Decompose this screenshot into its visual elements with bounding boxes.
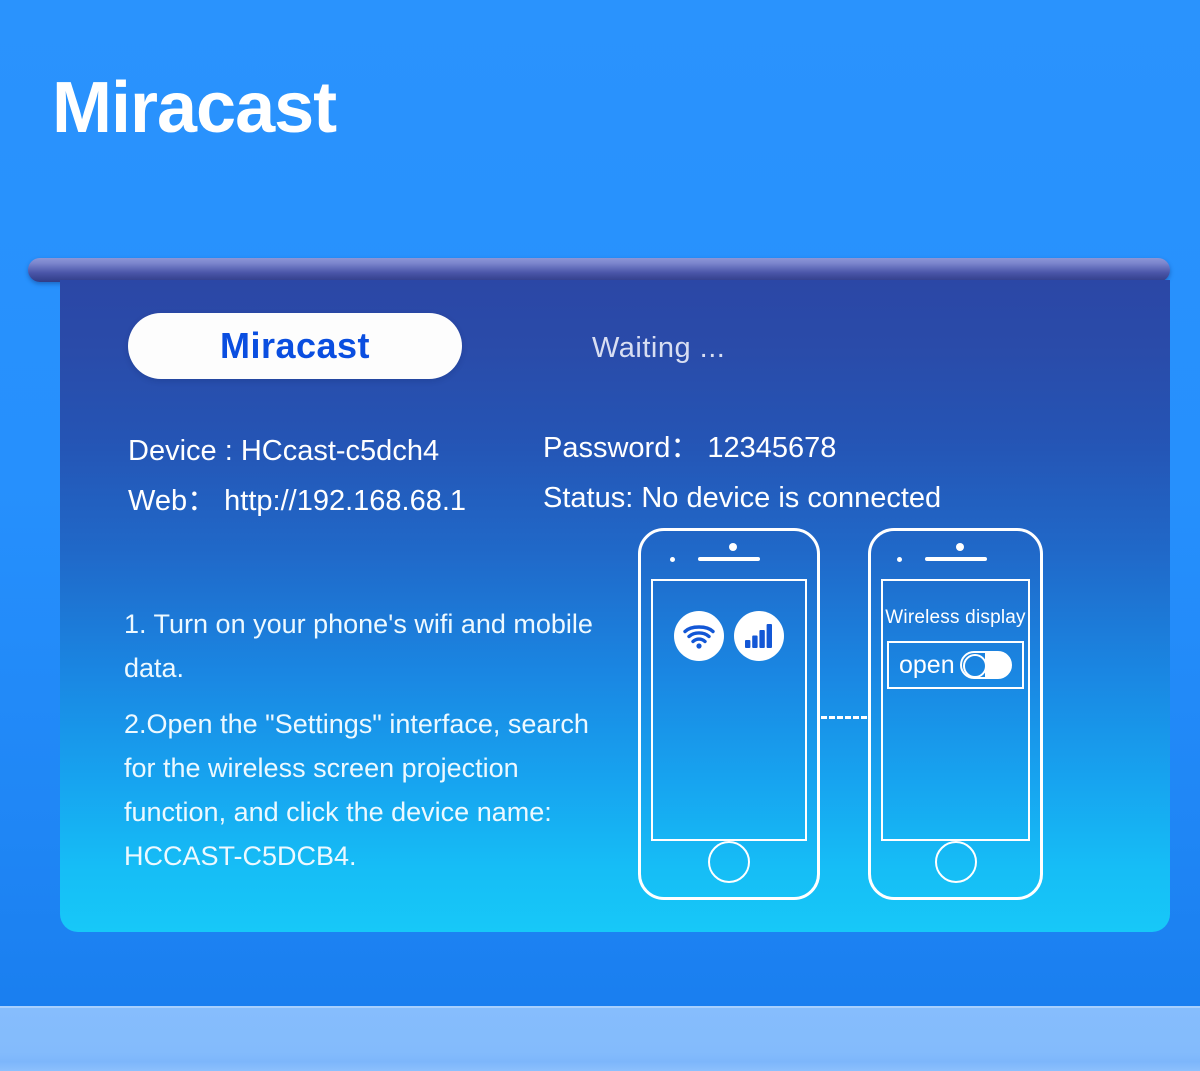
phone-left-outline xyxy=(638,528,820,900)
wireless-display-toggle-switch[interactable] xyxy=(960,651,1012,679)
wireless-display-toggle-label: open xyxy=(899,651,955,680)
waiting-status-text: Waiting ... xyxy=(592,332,725,365)
password-label: Password： xyxy=(543,432,699,464)
device-info-left-column: Device : HCcast-c5dch4 Web： http://192.1… xyxy=(128,426,598,526)
projector-roller-bar xyxy=(28,258,1170,282)
toggle-knob xyxy=(963,654,987,678)
phone-camera-dot-icon xyxy=(729,543,737,551)
web-address-label: Web： xyxy=(128,485,216,517)
miracast-mode-pill[interactable]: Miracast xyxy=(128,313,462,379)
phone-right-screen: Wireless display open xyxy=(881,579,1030,841)
phone-right-outline: Wireless display open xyxy=(868,528,1043,900)
phone-sensor-dot-icon xyxy=(897,557,902,562)
connection-status-label: Status: xyxy=(543,482,633,514)
phone-connection-dashed-line xyxy=(821,716,867,719)
phone-speaker-bar-icon xyxy=(698,557,760,561)
table-surface-band xyxy=(0,1006,1200,1071)
device-name-value: HCcast-c5dch4 xyxy=(241,435,439,467)
phone-left-status-icons xyxy=(653,611,805,661)
wireless-display-toggle-row[interactable]: open xyxy=(887,641,1024,689)
miracast-projection-panel: Miracast Waiting ... Device : HCcast-c5d… xyxy=(60,280,1170,932)
setup-instructions: 1. Turn on your phone's wifi and mobile … xyxy=(124,602,624,890)
connection-status-row: Status: No device is connected xyxy=(543,473,1103,523)
password-row: Password： 12345678 xyxy=(543,423,1103,473)
phone-left-screen xyxy=(651,579,807,841)
page-title: Miracast xyxy=(52,72,336,144)
phones-illustration: Wireless display open xyxy=(638,528,1058,900)
device-info-right-column: Password： 12345678 Status: No device is … xyxy=(543,423,1103,523)
instruction-step-2: 2.Open the "Settings" interface, search … xyxy=(124,702,624,878)
web-address-row: Web： http://192.168.68.1 xyxy=(128,476,598,526)
phone-camera-dot-icon xyxy=(956,543,964,551)
phone-home-button-icon xyxy=(935,841,977,883)
device-name-row: Device : HCcast-c5dch4 xyxy=(128,426,598,476)
password-value: 12345678 xyxy=(707,432,836,464)
web-address-value[interactable]: http://192.168.68.1 xyxy=(224,485,466,517)
instruction-step-1: 1. Turn on your phone's wifi and mobile … xyxy=(124,602,624,690)
wifi-icon xyxy=(674,611,724,661)
table-surface-edge xyxy=(0,1006,1200,1008)
device-name-label: Device : xyxy=(128,435,233,467)
phone-speaker-bar-icon xyxy=(925,557,987,561)
signal-bars-icon xyxy=(734,611,784,661)
wireless-display-title: Wireless display xyxy=(883,607,1028,629)
connection-status-value: No device is connected xyxy=(641,482,941,514)
phone-sensor-dot-icon xyxy=(670,557,675,562)
phone-home-button-icon xyxy=(708,841,750,883)
miracast-pill-label: Miracast xyxy=(220,325,370,367)
